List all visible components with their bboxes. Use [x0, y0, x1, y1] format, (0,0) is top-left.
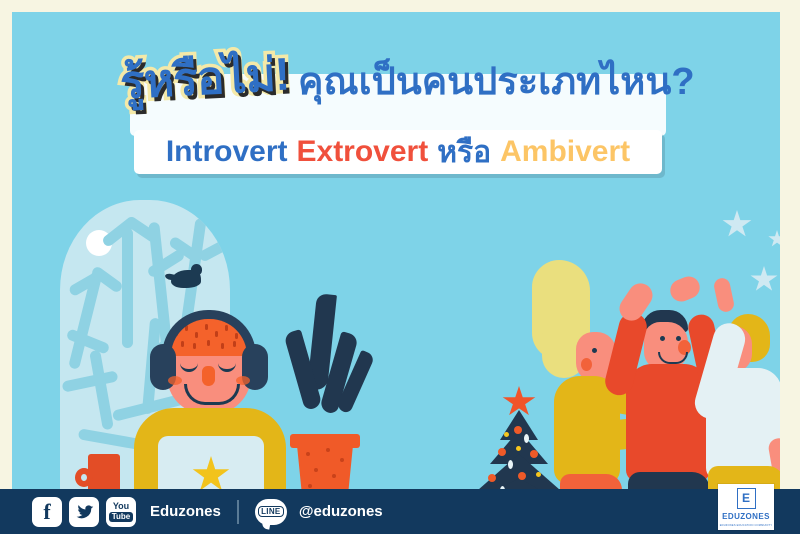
option-ambivert: Ambivert — [500, 135, 630, 169]
line-label: LINE — [258, 506, 283, 517]
dancer-white-sweater — [690, 260, 780, 510]
ornament — [514, 426, 522, 434]
youtube-icon[interactable]: You Tube — [106, 497, 136, 527]
star-icon — [722, 210, 752, 239]
twitter-icon[interactable] — [69, 497, 99, 527]
facebook-glyph: f — [43, 499, 50, 525]
ornament — [508, 460, 513, 469]
footer-bar: f You Tube Eduzones LINE @eduzones — [0, 489, 800, 534]
ornament — [536, 472, 541, 477]
eduzones-logo: E EDUZONES EDUZONES EDUCATION COMMUNITY — [718, 484, 774, 530]
ornament — [488, 474, 496, 482]
options-box: Introvert Extrovert หรือ Ambivert — [134, 130, 662, 174]
youtube-line-1: You — [113, 502, 129, 511]
headphones-band — [162, 310, 256, 356]
eye — [660, 336, 665, 341]
ornament — [530, 450, 538, 458]
bird-icon — [171, 270, 201, 288]
poster-canvas: รู้หรือไม่! คุณเป็นคนประเภทไหน? Introver… — [12, 12, 780, 522]
eye — [592, 348, 597, 353]
white-sweater — [706, 368, 780, 480]
ornament — [524, 434, 529, 443]
youtube-line-2: Tube — [109, 512, 134, 522]
branch — [89, 350, 114, 431]
nose — [202, 366, 215, 386]
christmas-tree — [474, 386, 564, 504]
divider — [237, 500, 239, 524]
ornament — [498, 448, 506, 456]
option-conjunction: หรือ — [437, 129, 491, 176]
title-line-1: รู้หรือไม่! คุณเป็นคนประเภทไหน? — [120, 44, 680, 100]
logo-tagline: EDUZONES EDUCATION COMMUNITY — [720, 524, 773, 527]
line-icon[interactable]: LINE — [255, 499, 287, 525]
hand — [713, 277, 736, 314]
facebook-icon[interactable]: f — [32, 497, 62, 527]
option-introvert: Introvert — [166, 135, 288, 169]
logo-name: EDUZONES — [722, 512, 770, 521]
logo-mark: E — [737, 488, 756, 509]
page-name: Eduzones — [150, 503, 221, 520]
title-block: รู้หรือไม่! คุณเป็นคนประเภทไหน? Introver… — [120, 44, 680, 100]
open-mouth — [581, 358, 592, 371]
ornament — [516, 446, 521, 451]
question-text: คุณเป็นคนประเภทไหน? — [298, 50, 695, 111]
option-extrovert: Extrovert — [297, 135, 429, 169]
line-handle: @eduzones — [299, 503, 383, 520]
branch — [61, 370, 118, 392]
poster-root: รู้หรือไม่! คุณเป็นคนประเภทไหน? Introver… — [0, 0, 800, 534]
ornament — [504, 432, 509, 437]
cheek-left — [168, 376, 182, 385]
star-icon — [768, 230, 780, 248]
highlight-text: รู้หรือไม่! — [118, 38, 291, 120]
ornament — [518, 472, 526, 480]
